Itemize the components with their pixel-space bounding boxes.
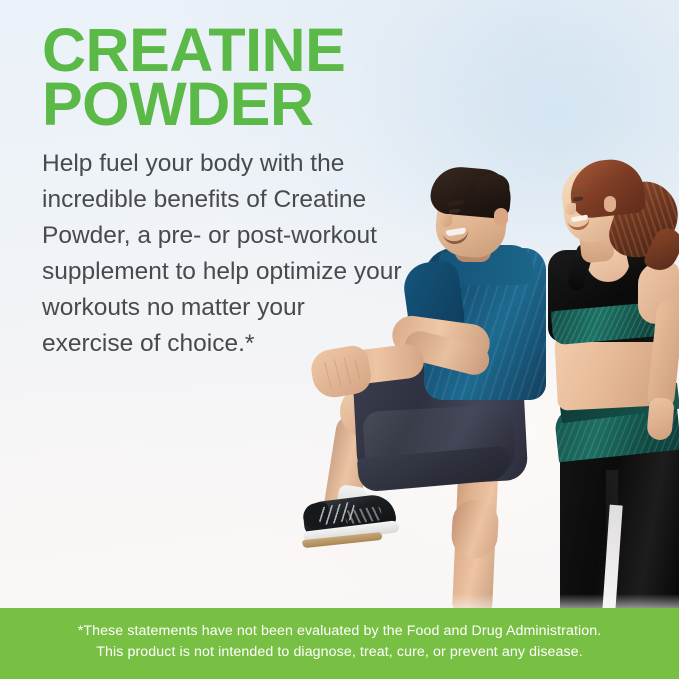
disclaimer-line-2: This product is not intended to diagnose… [0, 642, 679, 663]
disclaimer-line-1: *These statements have not been evaluate… [0, 621, 679, 642]
disclaimer-band: *These statements have not been evaluate… [0, 608, 679, 679]
woman-ear [604, 196, 616, 212]
product-promo-image: CREATINE POWDER Help fuel your body with… [0, 0, 679, 679]
woman-nose [565, 203, 576, 215]
disclaimer-text: *These statements have not been evaluate… [0, 621, 679, 663]
woman-athlete [0, 0, 679, 612]
lifestyle-photo [0, 0, 679, 612]
